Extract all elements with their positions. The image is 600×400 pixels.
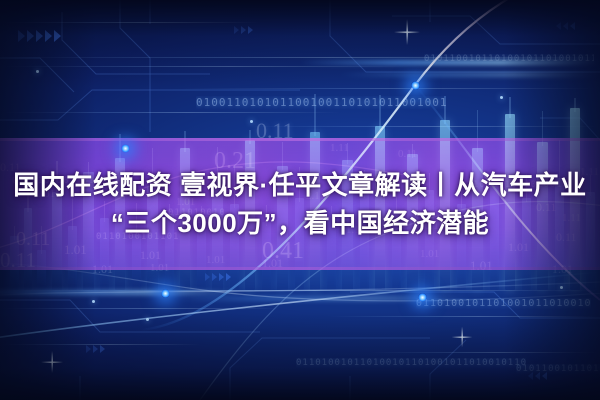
banner-image: 0.110.210.410.110.111.011.011.011.011.01… <box>0 0 600 400</box>
sparkle-icon <box>452 327 473 348</box>
accent-dot-icon <box>146 318 149 321</box>
headline-line-1: 国内在线配资 壹视界·任平文章解读丨从汽车产业 <box>0 168 600 202</box>
sparkle-icon <box>41 351 63 373</box>
band-top-edge <box>0 138 600 141</box>
chevron-icon <box>234 26 253 34</box>
chevron-icon <box>18 30 61 42</box>
chart-wick <box>379 95 381 130</box>
chevron-icon <box>86 345 105 353</box>
glow-node-icon <box>418 293 427 302</box>
chevron-icon <box>528 372 547 380</box>
glow-node-icon <box>411 81 420 90</box>
headline-line-2: “三个3000万”，看中国经济潜能 <box>0 206 600 240</box>
headline: 国内在线配资 壹视界·任平文章解读丨从汽车产业 “三个3000万”，看中国经济潜… <box>0 168 600 240</box>
accent-dot-icon <box>36 70 39 73</box>
binary-strip: 0101100101101001011010010110100101101001… <box>424 54 594 64</box>
accent-dot-icon <box>92 300 95 303</box>
band-bottom-edge <box>0 267 600 270</box>
chart-wick <box>314 94 316 136</box>
chevron-icon <box>556 22 575 30</box>
binary-strip: 0110100101101001011010010110100101101001… <box>296 358 526 368</box>
binary-strip: 01101001011010010110100101101001 <box>416 298 591 309</box>
accent-dot-icon <box>500 96 503 99</box>
sparkle-icon <box>394 19 420 45</box>
binary-strip: 010110010110100101101001 <box>516 364 600 374</box>
